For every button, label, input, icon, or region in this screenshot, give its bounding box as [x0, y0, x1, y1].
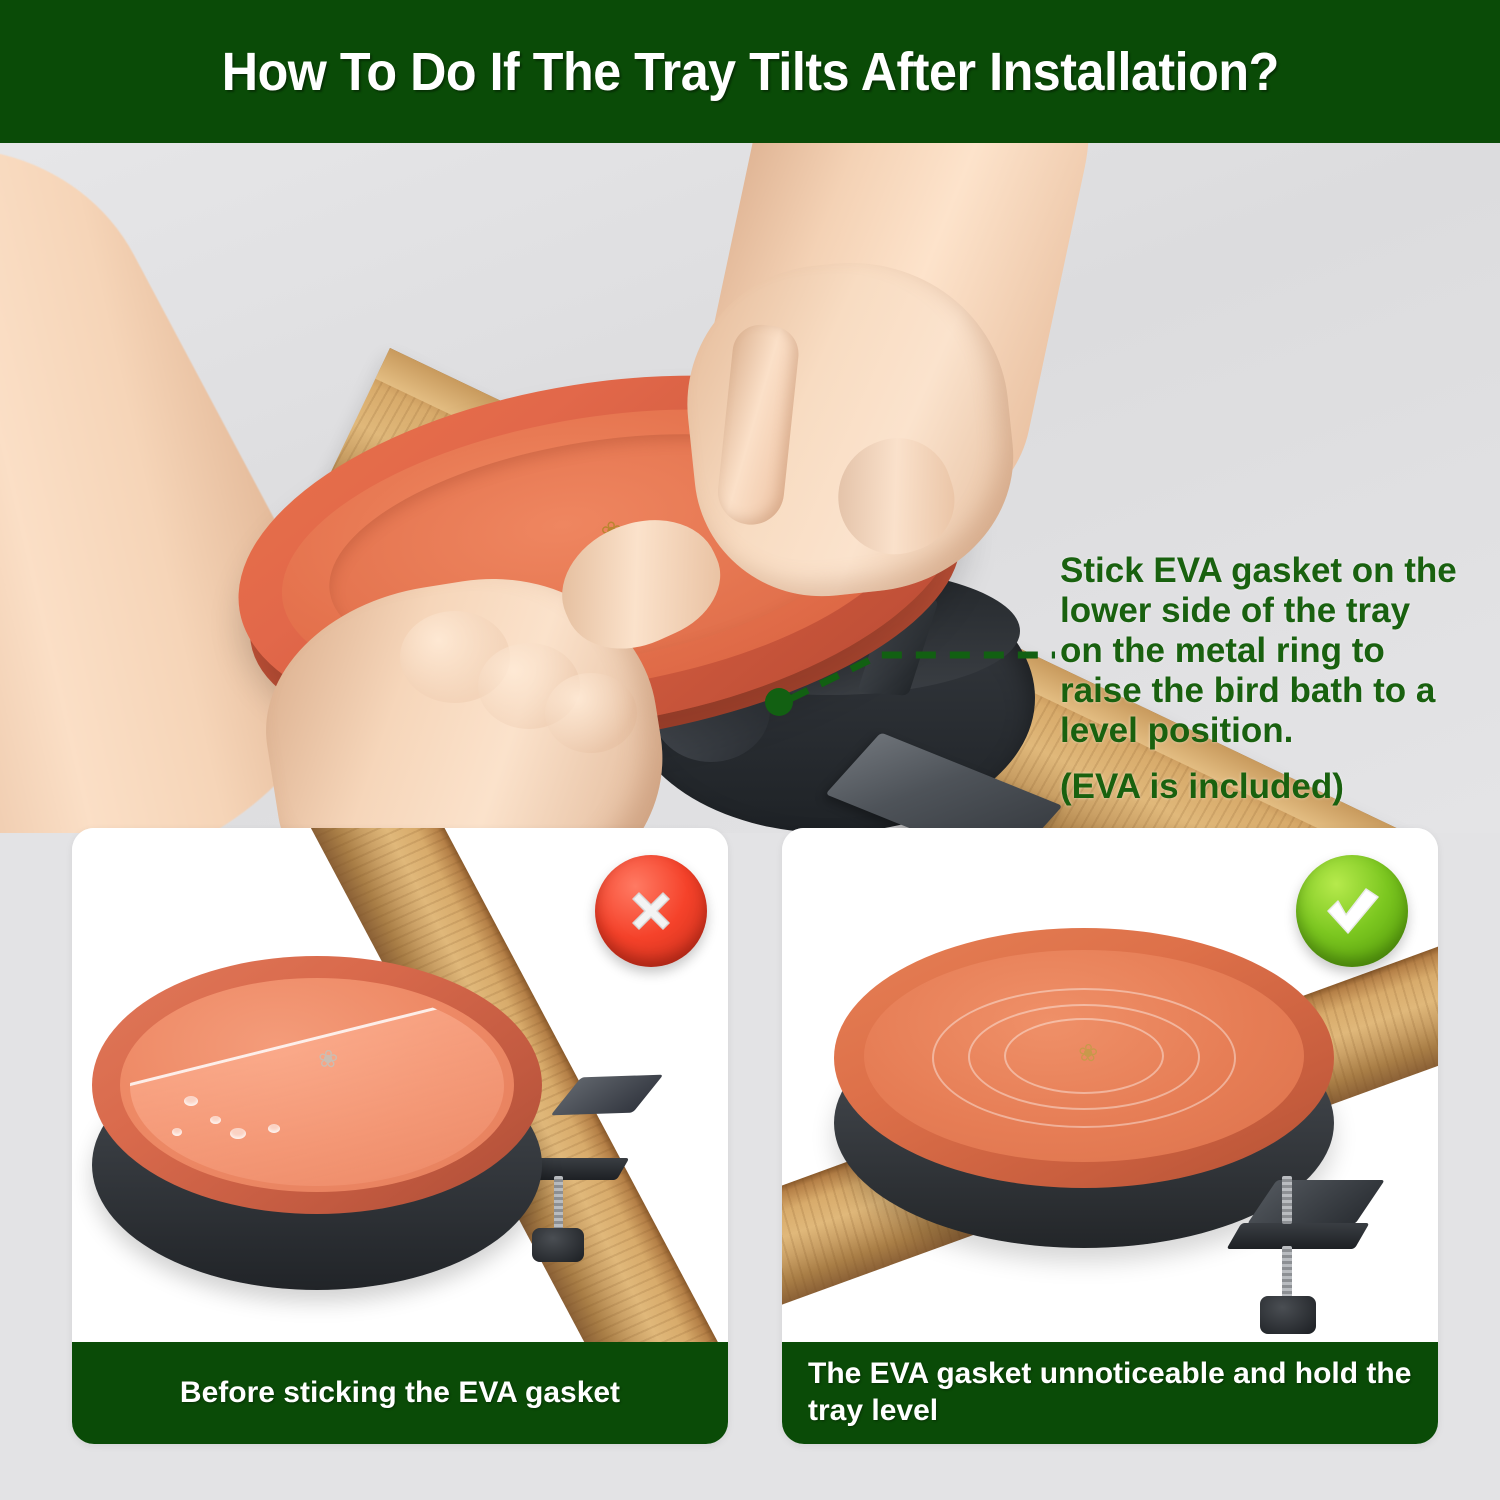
caption-text: The EVA gasket unnoticeable and hold the… [808, 1356, 1412, 1429]
clamp-rod [1282, 1176, 1292, 1224]
clamp-knob [1260, 1296, 1316, 1334]
callout-paragraph-1: Stick EVA gasket on the lower side of th… [1060, 551, 1460, 750]
clamp-rod [554, 1176, 563, 1234]
callout-text-block: Stick EVA gasket on the lower side of th… [1060, 551, 1460, 807]
check-icon [1318, 877, 1386, 945]
close-icon [619, 879, 683, 943]
leader-dot [765, 688, 793, 716]
infographic-page: How To Do If The Tray Tilts After Instal… [0, 0, 1500, 1500]
card-after-caption: The EVA gasket unnoticeable and hold the… [782, 1342, 1438, 1444]
caption-text: Before sticking the EVA gasket [180, 1375, 620, 1412]
bird-emblem-icon: ❀ [299, 1044, 357, 1076]
knuckle [545, 673, 637, 753]
water-droplet [268, 1124, 280, 1133]
check-badge [1296, 855, 1408, 967]
water-surface-uneven [130, 986, 504, 1186]
card-before-caption: Before sticking the EVA gasket [72, 1342, 728, 1444]
water-fill [130, 988, 504, 1186]
water-droplet [210, 1116, 221, 1124]
water-droplet [172, 1128, 182, 1136]
water-droplet [230, 1128, 246, 1139]
bird-emblem-icon: ❀ [1059, 1038, 1117, 1070]
callout-paragraph-2: (EVA is included) [1060, 767, 1460, 807]
page-title: How To Do If The Tray Tilts After Instal… [221, 41, 1278, 103]
hero-photo: ❀ Stick EVA gasket on the lower side of … [0, 143, 1500, 833]
water-droplet [184, 1096, 198, 1106]
clamp-knob [532, 1228, 584, 1262]
cross-badge [595, 855, 707, 967]
header-banner: How To Do If The Tray Tilts After Instal… [0, 0, 1500, 143]
clamp-plate [1226, 1223, 1369, 1249]
